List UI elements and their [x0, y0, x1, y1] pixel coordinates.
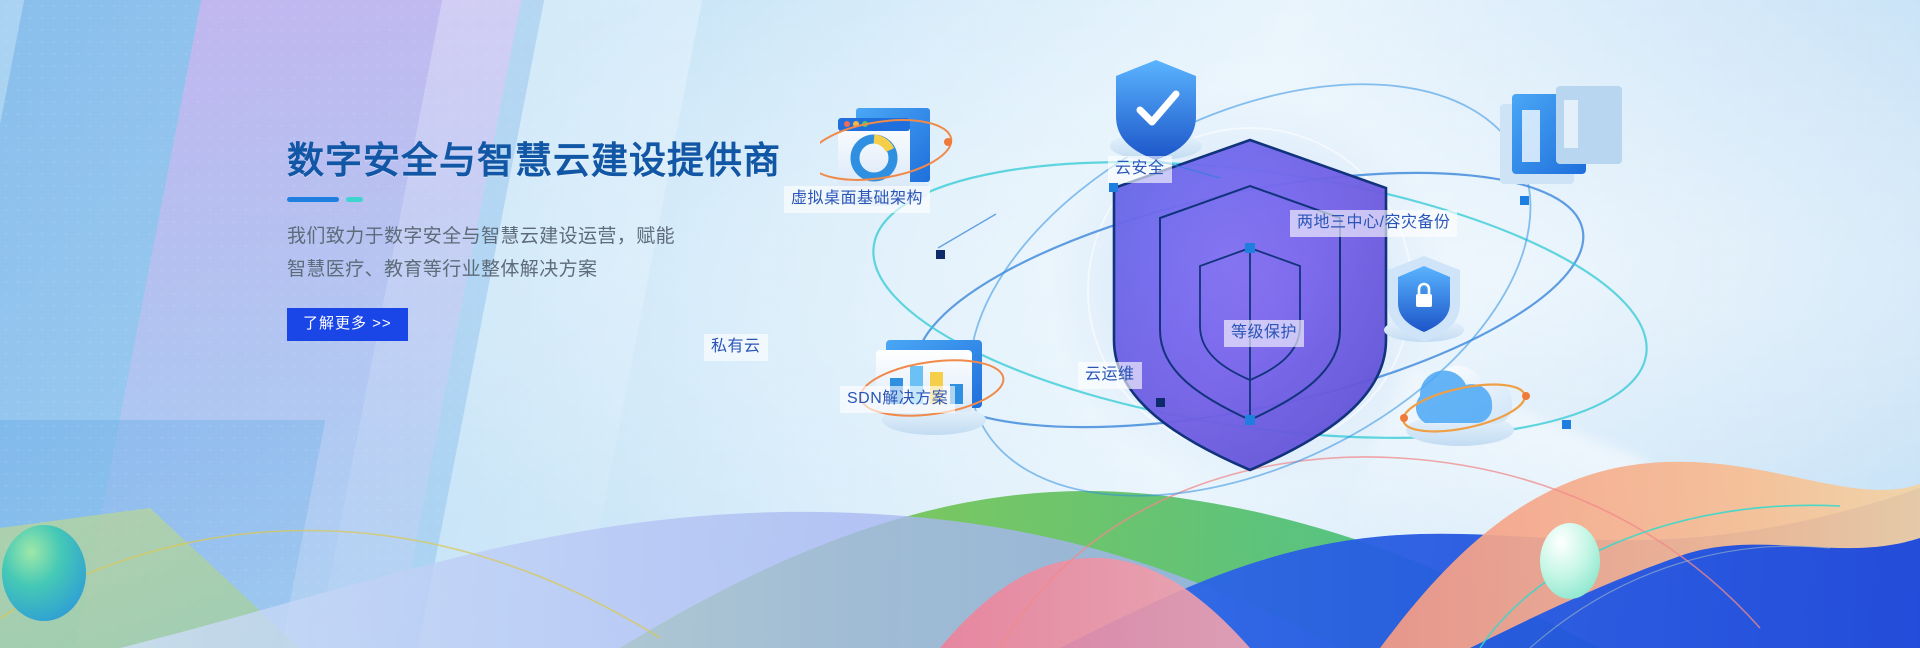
label-sdn[interactable]: SDN解决方案 [840, 386, 955, 413]
node-cloud-security-icon [1110, 60, 1202, 160]
accent-rule-segment-long [287, 197, 339, 202]
label-dr-backup[interactable]: 两地三中心/容灾备份 [1290, 210, 1457, 237]
solution-illustration: 虚拟桌面基础架构 云安全 两地三中心/容灾备份 等级保护 云运维 SDN解决方案… [820, 0, 1920, 560]
learn-more-button[interactable]: 了解更多 >> [287, 308, 408, 341]
accent-rule-segment-short [346, 197, 363, 202]
node-grade-protection-icon [1384, 256, 1464, 342]
node-dr-backup-icon [1500, 86, 1622, 184]
hero-subtitle-line-2: 智慧医疗、教育等行业整体解决方案 [287, 253, 927, 286]
label-grade-protection[interactable]: 等级保护 [1224, 320, 1304, 347]
title-accent-rule [287, 197, 927, 202]
teal-sphere [2, 525, 86, 621]
pink-wave [940, 558, 1250, 648]
label-cloud-ops[interactable]: 云运维 [1078, 362, 1142, 389]
grey-arc [1530, 546, 1830, 648]
label-cloud-security[interactable]: 云安全 [1108, 156, 1172, 183]
yellow-arc [0, 531, 660, 639]
olive-wave [0, 508, 300, 648]
illustration-svg [820, 0, 1920, 560]
hero-subtitle: 我们致力于数字安全与智慧云建设运营，赋能 智慧医疗、教育等行业整体解决方案 [287, 220, 927, 287]
background-shape-blue-panel-lower [0, 420, 325, 648]
hero-banner: 虚拟桌面基础架构 云安全 两地三中心/容灾备份 等级保护 云运维 SDN解决方案… [0, 0, 1920, 648]
hero-copy-block: 数字安全与智慧云建设提供商 我们致力于数字安全与智慧云建设运营，赋能 智慧医疗、… [287, 140, 927, 341]
hero-subtitle-line-1: 我们致力于数字安全与智慧云建设运营，赋能 [287, 220, 927, 253]
page-title: 数字安全与智慧云建设提供商 [287, 140, 927, 183]
